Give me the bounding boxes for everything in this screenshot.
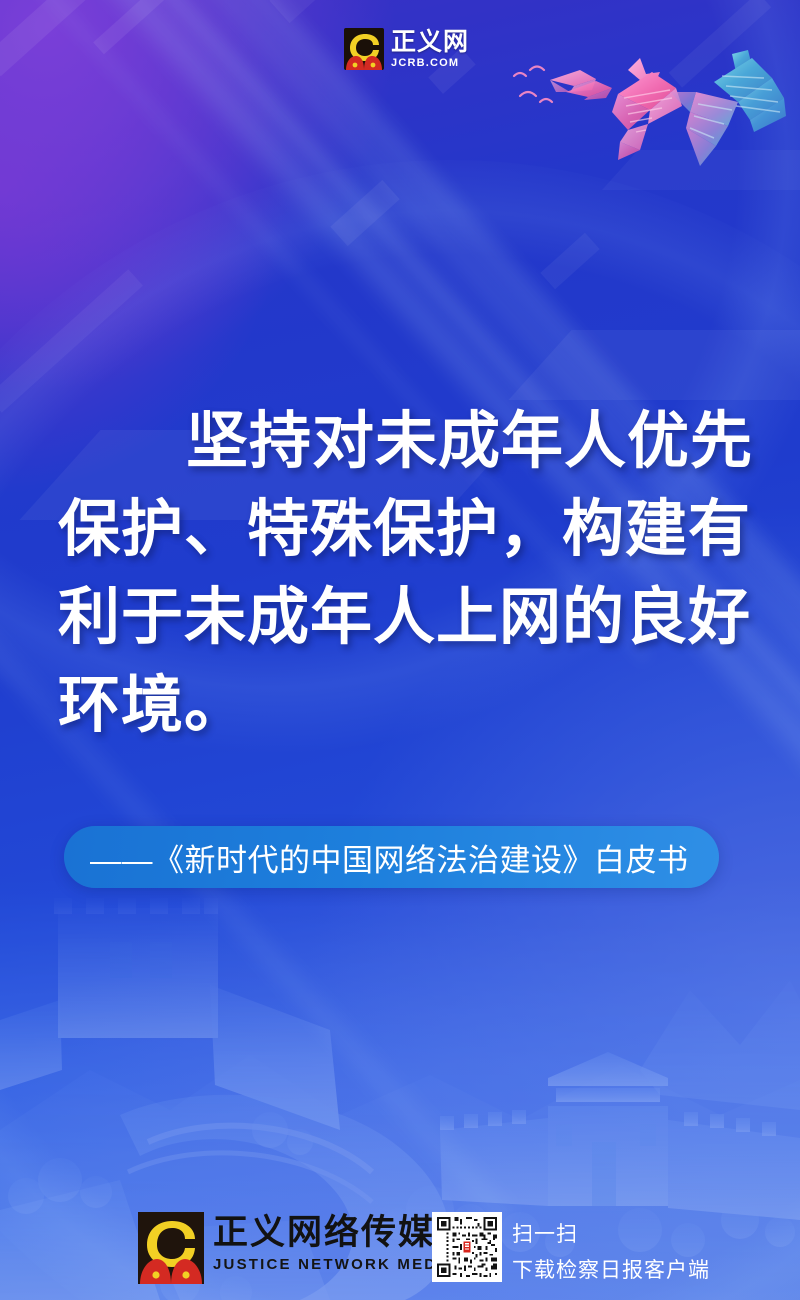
footer-brand-logo[interactable]: 正义网络传媒 JUSTICE NETWORK MEDIA bbox=[138, 1212, 457, 1284]
footer-brand-cn: 正义网络传媒 bbox=[213, 1215, 457, 1250]
bird-pink bbox=[612, 58, 682, 160]
bird-teal bbox=[670, 50, 786, 166]
top-brand-cn: 正义网 bbox=[391, 30, 469, 55]
zhengyi-emblem-icon bbox=[344, 28, 384, 70]
headline-block: 坚持对未成年人优先 保护、特殊保护，构建有 利于未成年人上网的良好 环境。 bbox=[58, 398, 748, 750]
justice-media-emblem-icon bbox=[138, 1212, 204, 1284]
origami-birds-decoration bbox=[500, 48, 800, 173]
headline-line: 环境。 bbox=[58, 662, 748, 750]
scan-instructions: 扫一扫 下载检察日报客户端 bbox=[512, 1218, 710, 1284]
top-brand-logo[interactable]: 正义网 JCRB.COM bbox=[344, 28, 469, 70]
top-brand-en: JCRB.COM bbox=[391, 58, 469, 69]
attribution-pill: ——《新时代的中国网络法治建设》白皮书 bbox=[64, 826, 719, 888]
poster-root: 正义网 JCRB.COM bbox=[0, 0, 800, 1300]
headline-line: 坚持对未成年人优先 bbox=[58, 398, 748, 486]
scan-line-2: 下载检察日报客户端 bbox=[512, 1254, 710, 1284]
scan-line-1: 扫一扫 bbox=[512, 1218, 710, 1248]
attribution-text: ——《新时代的中国网络法治建设》白皮书 bbox=[90, 835, 689, 880]
top-brand-text: 正义网 JCRB.COM bbox=[391, 30, 469, 69]
headline-line: 利于未成年人上网的良好 bbox=[58, 574, 748, 662]
footer-brand-text: 正义网络传媒 JUSTICE NETWORK MEDIA bbox=[213, 1212, 457, 1272]
footer-brand-en: JUSTICE NETWORK MEDIA bbox=[213, 1257, 457, 1272]
download-qr-code[interactable] bbox=[432, 1212, 502, 1282]
headline-line: 保护、特殊保护，构建有 bbox=[58, 486, 748, 574]
